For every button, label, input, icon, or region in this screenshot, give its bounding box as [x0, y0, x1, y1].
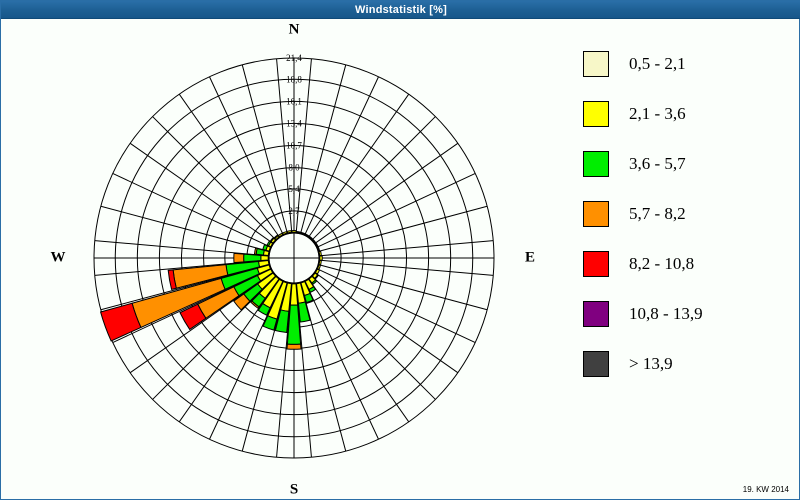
- radial-tick-label: 16,1: [286, 96, 302, 106]
- petal-segment: [320, 256, 323, 260]
- grid-spoke: [101, 206, 270, 251]
- grid-spoke: [318, 206, 487, 251]
- cardinal-label-west: W: [51, 249, 66, 265]
- cardinal-label-south: S: [290, 481, 298, 497]
- petal-segment: [304, 293, 313, 302]
- petal-segment: [319, 251, 321, 255]
- legend-swatch: [583, 51, 609, 77]
- legend-item: 0,5 - 2,1: [583, 39, 793, 89]
- grid-spoke: [305, 281, 379, 440]
- petal-segment: [234, 253, 244, 262]
- legend-item: 3,6 - 5,7: [583, 139, 793, 189]
- petal-segment: [292, 231, 296, 233]
- legend-label: 5,7 - 8,2: [629, 204, 686, 224]
- grid-spoke: [317, 269, 476, 343]
- legend-label: 2,1 - 3,6: [629, 104, 686, 124]
- grid-spoke: [300, 65, 345, 234]
- radial-tick-label: 13,4: [286, 118, 302, 128]
- grid-spoke: [209, 77, 283, 236]
- legend-swatch: [583, 351, 609, 377]
- grid-spoke: [312, 117, 436, 241]
- grid-spoke: [113, 173, 272, 247]
- legend-item: > 13,9: [583, 339, 793, 389]
- radial-tick-label: 18,8: [286, 74, 302, 84]
- grid-spoke: [312, 276, 436, 400]
- petal-segment: [287, 231, 291, 233]
- petal-segment: [261, 255, 268, 260]
- grid-spoke: [317, 173, 476, 247]
- radial-tick-label: 8,0: [288, 163, 300, 173]
- radial-tick-label: 10,7: [286, 141, 302, 151]
- cardinal-label-east: E: [525, 249, 535, 265]
- grid-spoke: [318, 264, 487, 309]
- grid-spoke: [305, 77, 379, 236]
- legend: 0,5 - 2,12,1 - 3,63,6 - 5,75,7 - 8,28,2 …: [583, 39, 793, 389]
- grid-spoke: [242, 65, 287, 234]
- radial-tick-label: 2,7: [288, 206, 300, 216]
- petal-segment: [319, 261, 321, 265]
- windrose-window: Windstatistik [%] 2,75,48,010,713,416,11…: [0, 0, 800, 500]
- grid-spoke: [300, 282, 345, 451]
- legend-label: > 13,9: [629, 354, 673, 374]
- radial-tick-label: 21,4: [286, 53, 302, 63]
- legend-item: 2,1 - 3,6: [583, 89, 793, 139]
- window-title: Windstatistik [%]: [355, 4, 447, 16]
- petal-segment: [298, 302, 310, 322]
- radial-tick-label: 5,4: [288, 184, 300, 194]
- legend-label: 8,2 - 10,8: [629, 254, 694, 274]
- grid-spoke: [153, 117, 277, 241]
- legend-swatch: [583, 301, 609, 327]
- window-title-bar: Windstatistik [%]: [1, 1, 800, 19]
- petal-segment: [297, 231, 301, 233]
- legend-swatch: [583, 201, 609, 227]
- cardinal-label-north: N: [289, 21, 300, 37]
- windrose-petals: [101, 231, 323, 350]
- legend-label: 10,8 - 13,9: [629, 304, 703, 324]
- petal-segment: [244, 254, 261, 262]
- legend-label: 3,6 - 5,7: [629, 154, 686, 174]
- footer-timestamp: 19. KW 2014: [743, 485, 789, 494]
- legend-swatch: [583, 251, 609, 277]
- petal-segment: [287, 344, 301, 349]
- legend-item: 5,7 - 8,2: [583, 189, 793, 239]
- legend-item: 8,2 - 10,8: [583, 239, 793, 289]
- legend-swatch: [583, 151, 609, 177]
- legend-item: 10,8 - 13,9: [583, 289, 793, 339]
- legend-label: 0,5 - 2,1: [629, 54, 686, 74]
- cardinal-labels: N E S W: [51, 21, 536, 497]
- legend-swatch: [583, 101, 609, 127]
